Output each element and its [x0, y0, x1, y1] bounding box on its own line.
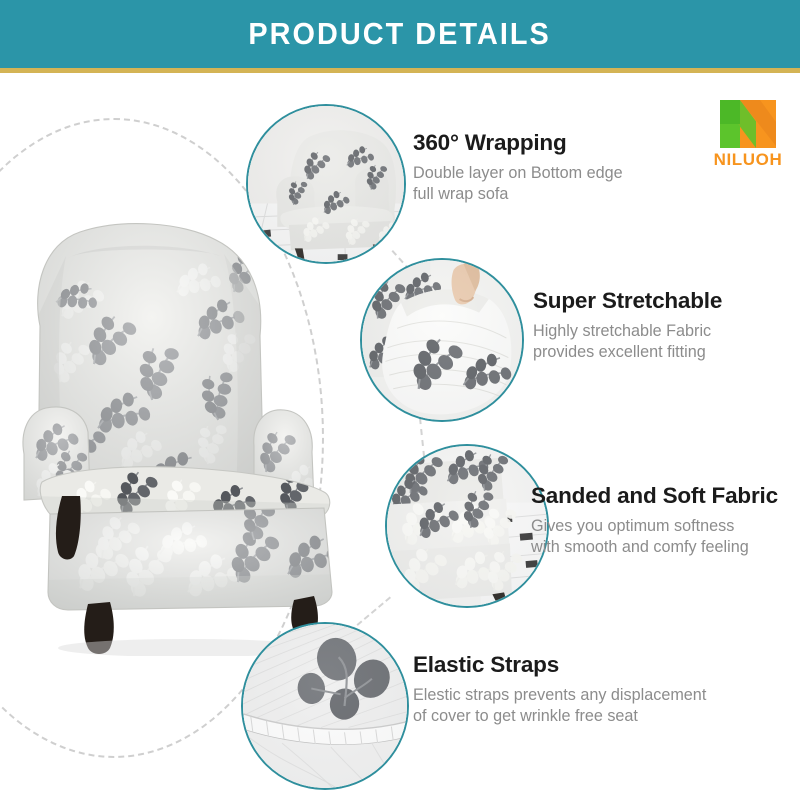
page-title: PRODUCT DETAILS [249, 16, 551, 52]
feature-desc-elastic-straps: Elestic straps prevents any displacement… [413, 685, 706, 727]
hero-product-image [2, 196, 362, 656]
feature-text-sanded-soft: Sanded and Soft Fabric Gives you optimum… [531, 483, 778, 558]
feature-desc-line: full wrap sofa [413, 184, 623, 205]
feature-image-wrapping [246, 104, 406, 264]
feature-image-sanded-soft [385, 444, 549, 608]
feature-desc-line: Highly stretchable Fabric [533, 321, 722, 342]
feature-desc-line: of cover to get wrinkle free seat [413, 706, 706, 727]
feature-desc-sanded-soft: Gives you optimum softness with smooth a… [531, 516, 778, 558]
brand-name: NILUOH [700, 150, 796, 170]
header-gold-stripe [0, 68, 800, 73]
feature-desc-line: with smooth and comfy feeling [531, 537, 778, 558]
feature-desc-line: Gives you optimum softness [531, 516, 778, 537]
feature-title-stretchable: Super Stretchable [533, 288, 722, 314]
feature-title-elastic-straps: Elastic Straps [413, 652, 706, 678]
feature-desc-line: Double layer on Bottom edge [413, 163, 623, 184]
feature-title-wrapping: 360° Wrapping [413, 130, 623, 156]
product-details-infographic: PRODUCT DETAILS NILUOH [0, 0, 800, 800]
feature-title-sanded-soft: Sanded and Soft Fabric [531, 483, 778, 509]
niluoh-n-monogram-icon [714, 98, 782, 150]
feature-text-wrapping: 360° Wrapping Double layer on Bottom edg… [413, 130, 623, 205]
feature-desc-stretchable: Highly stretchable Fabric provides excel… [533, 321, 722, 363]
feature-desc-line: Elestic straps prevents any displacement [413, 685, 706, 706]
header-banner: PRODUCT DETAILS [0, 0, 800, 68]
feature-desc-wrapping: Double layer on Bottom edge full wrap so… [413, 163, 623, 205]
feature-desc-line: provides excellent fitting [533, 342, 722, 363]
feature-text-elastic-straps: Elastic Straps Elestic straps prevents a… [413, 652, 706, 727]
feature-image-stretchable [360, 258, 524, 422]
feature-text-stretchable: Super Stretchable Highly stretchable Fab… [533, 288, 722, 363]
brand-logo: NILUOH [700, 98, 796, 174]
feature-image-elastic-straps [241, 622, 409, 790]
